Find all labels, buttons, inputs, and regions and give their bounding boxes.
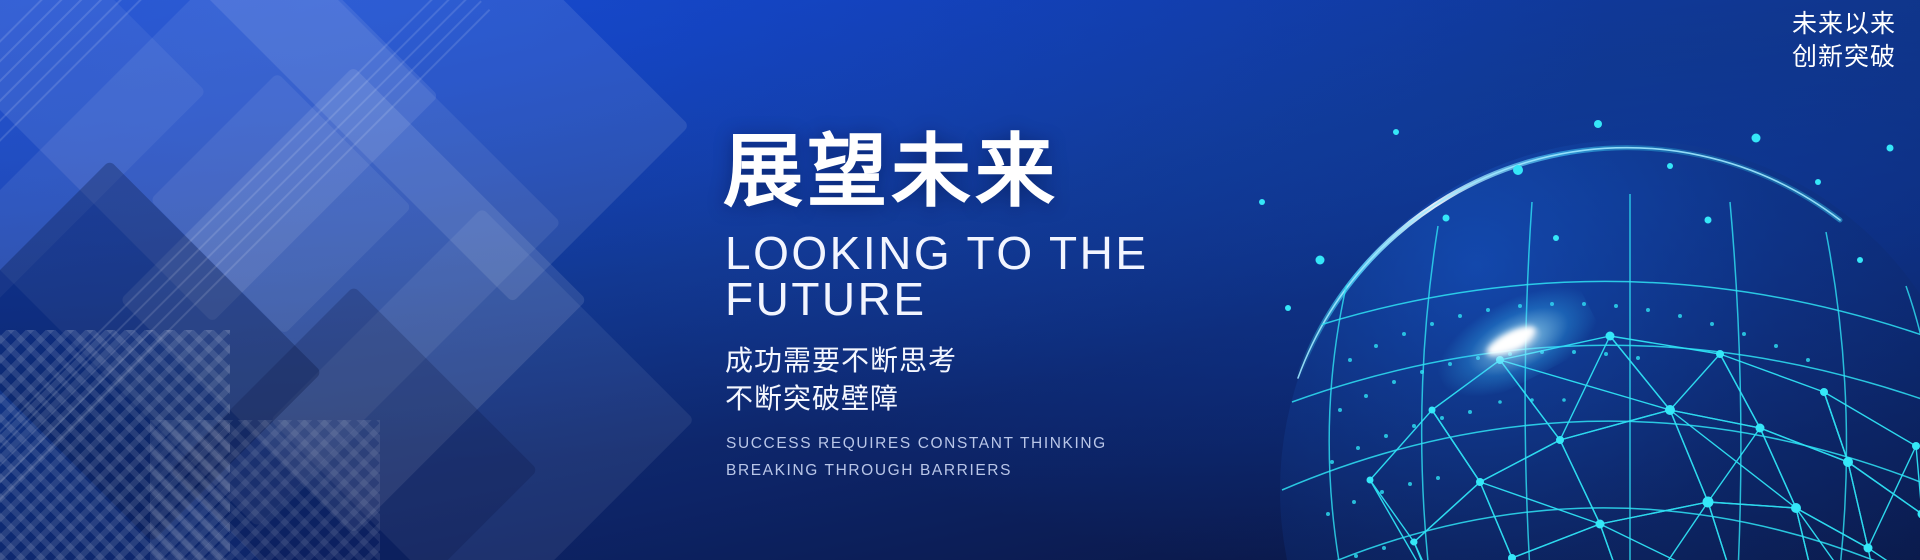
page-title: 展望未来	[723, 132, 1343, 212]
subheading-chinese: 成功需要不断思考 不断突破壁障	[725, 342, 1343, 417]
subheading-chinese-line-1: 成功需要不断思考	[725, 342, 1343, 380]
corner-tagline: 未来以来 创新突破	[1792, 8, 1896, 74]
corner-tagline-line-1: 未来以来	[1792, 8, 1896, 41]
subheading-chinese-line-2: 不断突破壁障	[725, 380, 1343, 418]
subheading-english-line-2: BREAKING THROUGH BARRIERS	[726, 458, 1343, 485]
headline-copy-block: 展望未来 LOOKING TO THE FUTURE 成功需要不断思考 不断突破…	[723, 132, 1343, 484]
headline-english: LOOKING TO THE FUTURE	[725, 230, 1343, 322]
subheading-english-line-1: SUCCESS REQUIRES CONSTANT THINKING	[726, 431, 1343, 458]
corner-tagline-line-2: 创新突破	[1792, 41, 1896, 74]
light-flare-icon	[1396, 288, 1626, 398]
subheading-english: SUCCESS REQUIRES CONSTANT THINKING BREAK…	[726, 431, 1343, 484]
promo-banner: 展望未来 LOOKING TO THE FUTURE 成功需要不断思考 不断突破…	[0, 0, 1920, 560]
left-geometric-decoration	[0, 0, 760, 560]
floating-particles	[1259, 120, 1920, 311]
deco-dot-grid-2	[150, 420, 380, 560]
